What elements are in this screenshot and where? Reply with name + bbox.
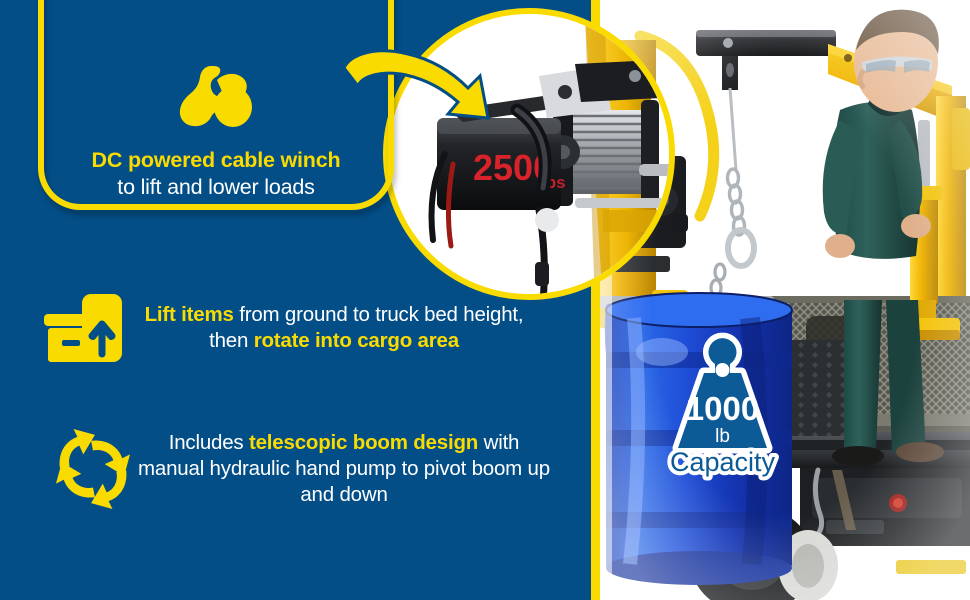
box-with-up-arrow-icon: [42, 290, 124, 366]
feature-lift-items-text: Lift items from ground to truck bed heig…: [124, 302, 544, 354]
segment-bold-2: rotate into cargo area: [254, 329, 459, 352]
callout-text: DC powered cable winch to lift and lower…: [92, 148, 341, 201]
feature-lift-items: Lift items from ground to truck bed heig…: [42, 290, 572, 366]
flexed-bicep-icon: [177, 60, 255, 132]
feature-telescopic-boom-text: Includes telescopic boom design with man…: [134, 430, 554, 509]
callout-subline: to lift and lower loads: [92, 175, 341, 200]
feature-telescopic-boom: Includes telescopic boom design with man…: [52, 430, 582, 509]
callout-headline: DC powered cable winch: [92, 148, 341, 173]
rotate-arrows-icon: [52, 431, 134, 507]
curved-arrow-icon: [330, 40, 530, 170]
segment-plain-1: Includes: [169, 431, 249, 454]
segment-bold-1: telescopic boom design: [249, 431, 478, 454]
capacity-unit: lb: [715, 426, 730, 447]
infographic-root: 2500 lbs DC po: [0, 0, 970, 600]
capacity-label: Capacity: [670, 447, 776, 477]
capacity-value: 1000: [686, 390, 759, 427]
capacity-badge: 1000 lb Capacity: [655, 352, 790, 487]
segment-bold-1: Lift items: [145, 303, 234, 326]
